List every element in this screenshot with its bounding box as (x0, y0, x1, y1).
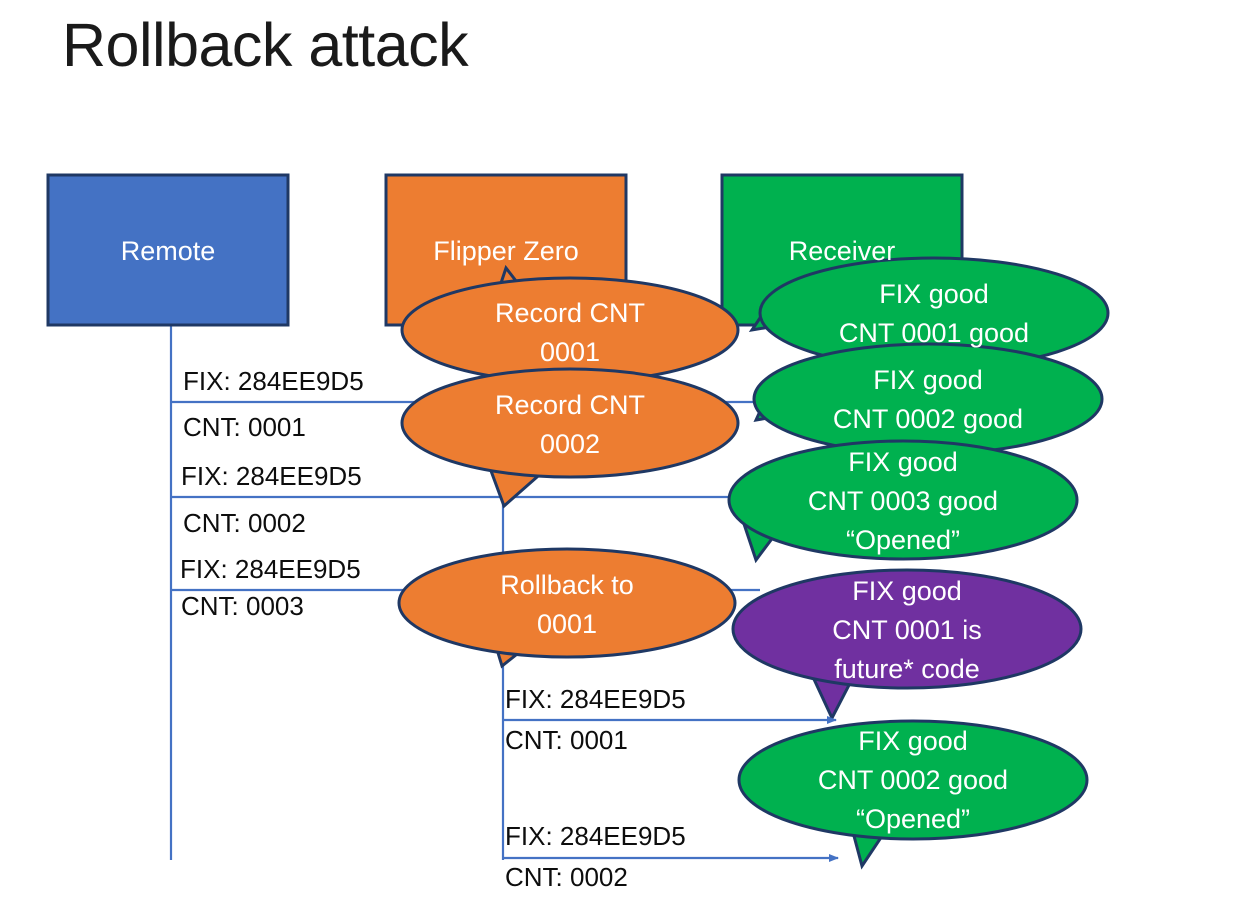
message-fix-m5: FIX: 284EE9D5 (505, 821, 686, 852)
message-fix-m2: FIX: 284EE9D5 (181, 461, 362, 492)
message-fix-m1: FIX: 284EE9D5 (183, 366, 364, 397)
message-fix-m4: FIX: 284EE9D5 (505, 684, 686, 715)
slide-canvas: Rollback attack (0, 0, 1233, 898)
message-cnt-m5: CNT: 0002 (505, 862, 628, 893)
bubble-label-b3: Rollback to 0001 (399, 566, 735, 644)
lane-label-remote: Remote (48, 236, 288, 267)
lane-label-flipper: Flipper Zero (386, 236, 626, 267)
message-cnt-m2: CNT: 0002 (183, 508, 306, 539)
message-cnt-m1: CNT: 0001 (183, 412, 306, 443)
message-cnt-m4: CNT: 0001 (505, 725, 628, 756)
bubble-label-b5: FIX good CNT 0002 good (754, 361, 1102, 439)
lane-label-receiver: Receiver (722, 236, 962, 267)
bubble-label-b8: FIX good CNT 0002 good “Opened” (739, 722, 1087, 839)
bubble-label-b2: Record CNT 0002 (402, 386, 738, 464)
bubble-label-b6: FIX good CNT 0003 good “Opened” (729, 443, 1077, 560)
bubble-label-b1: Record CNT 0001 (402, 294, 738, 372)
message-cnt-m3: CNT: 0003 (181, 591, 304, 622)
bubble-label-b7: FIX good CNT 0001 is future* code (733, 572, 1081, 689)
message-fix-m3: FIX: 284EE9D5 (180, 554, 361, 585)
bubble-label-b4: FIX good CNT 0001 good (760, 275, 1108, 353)
